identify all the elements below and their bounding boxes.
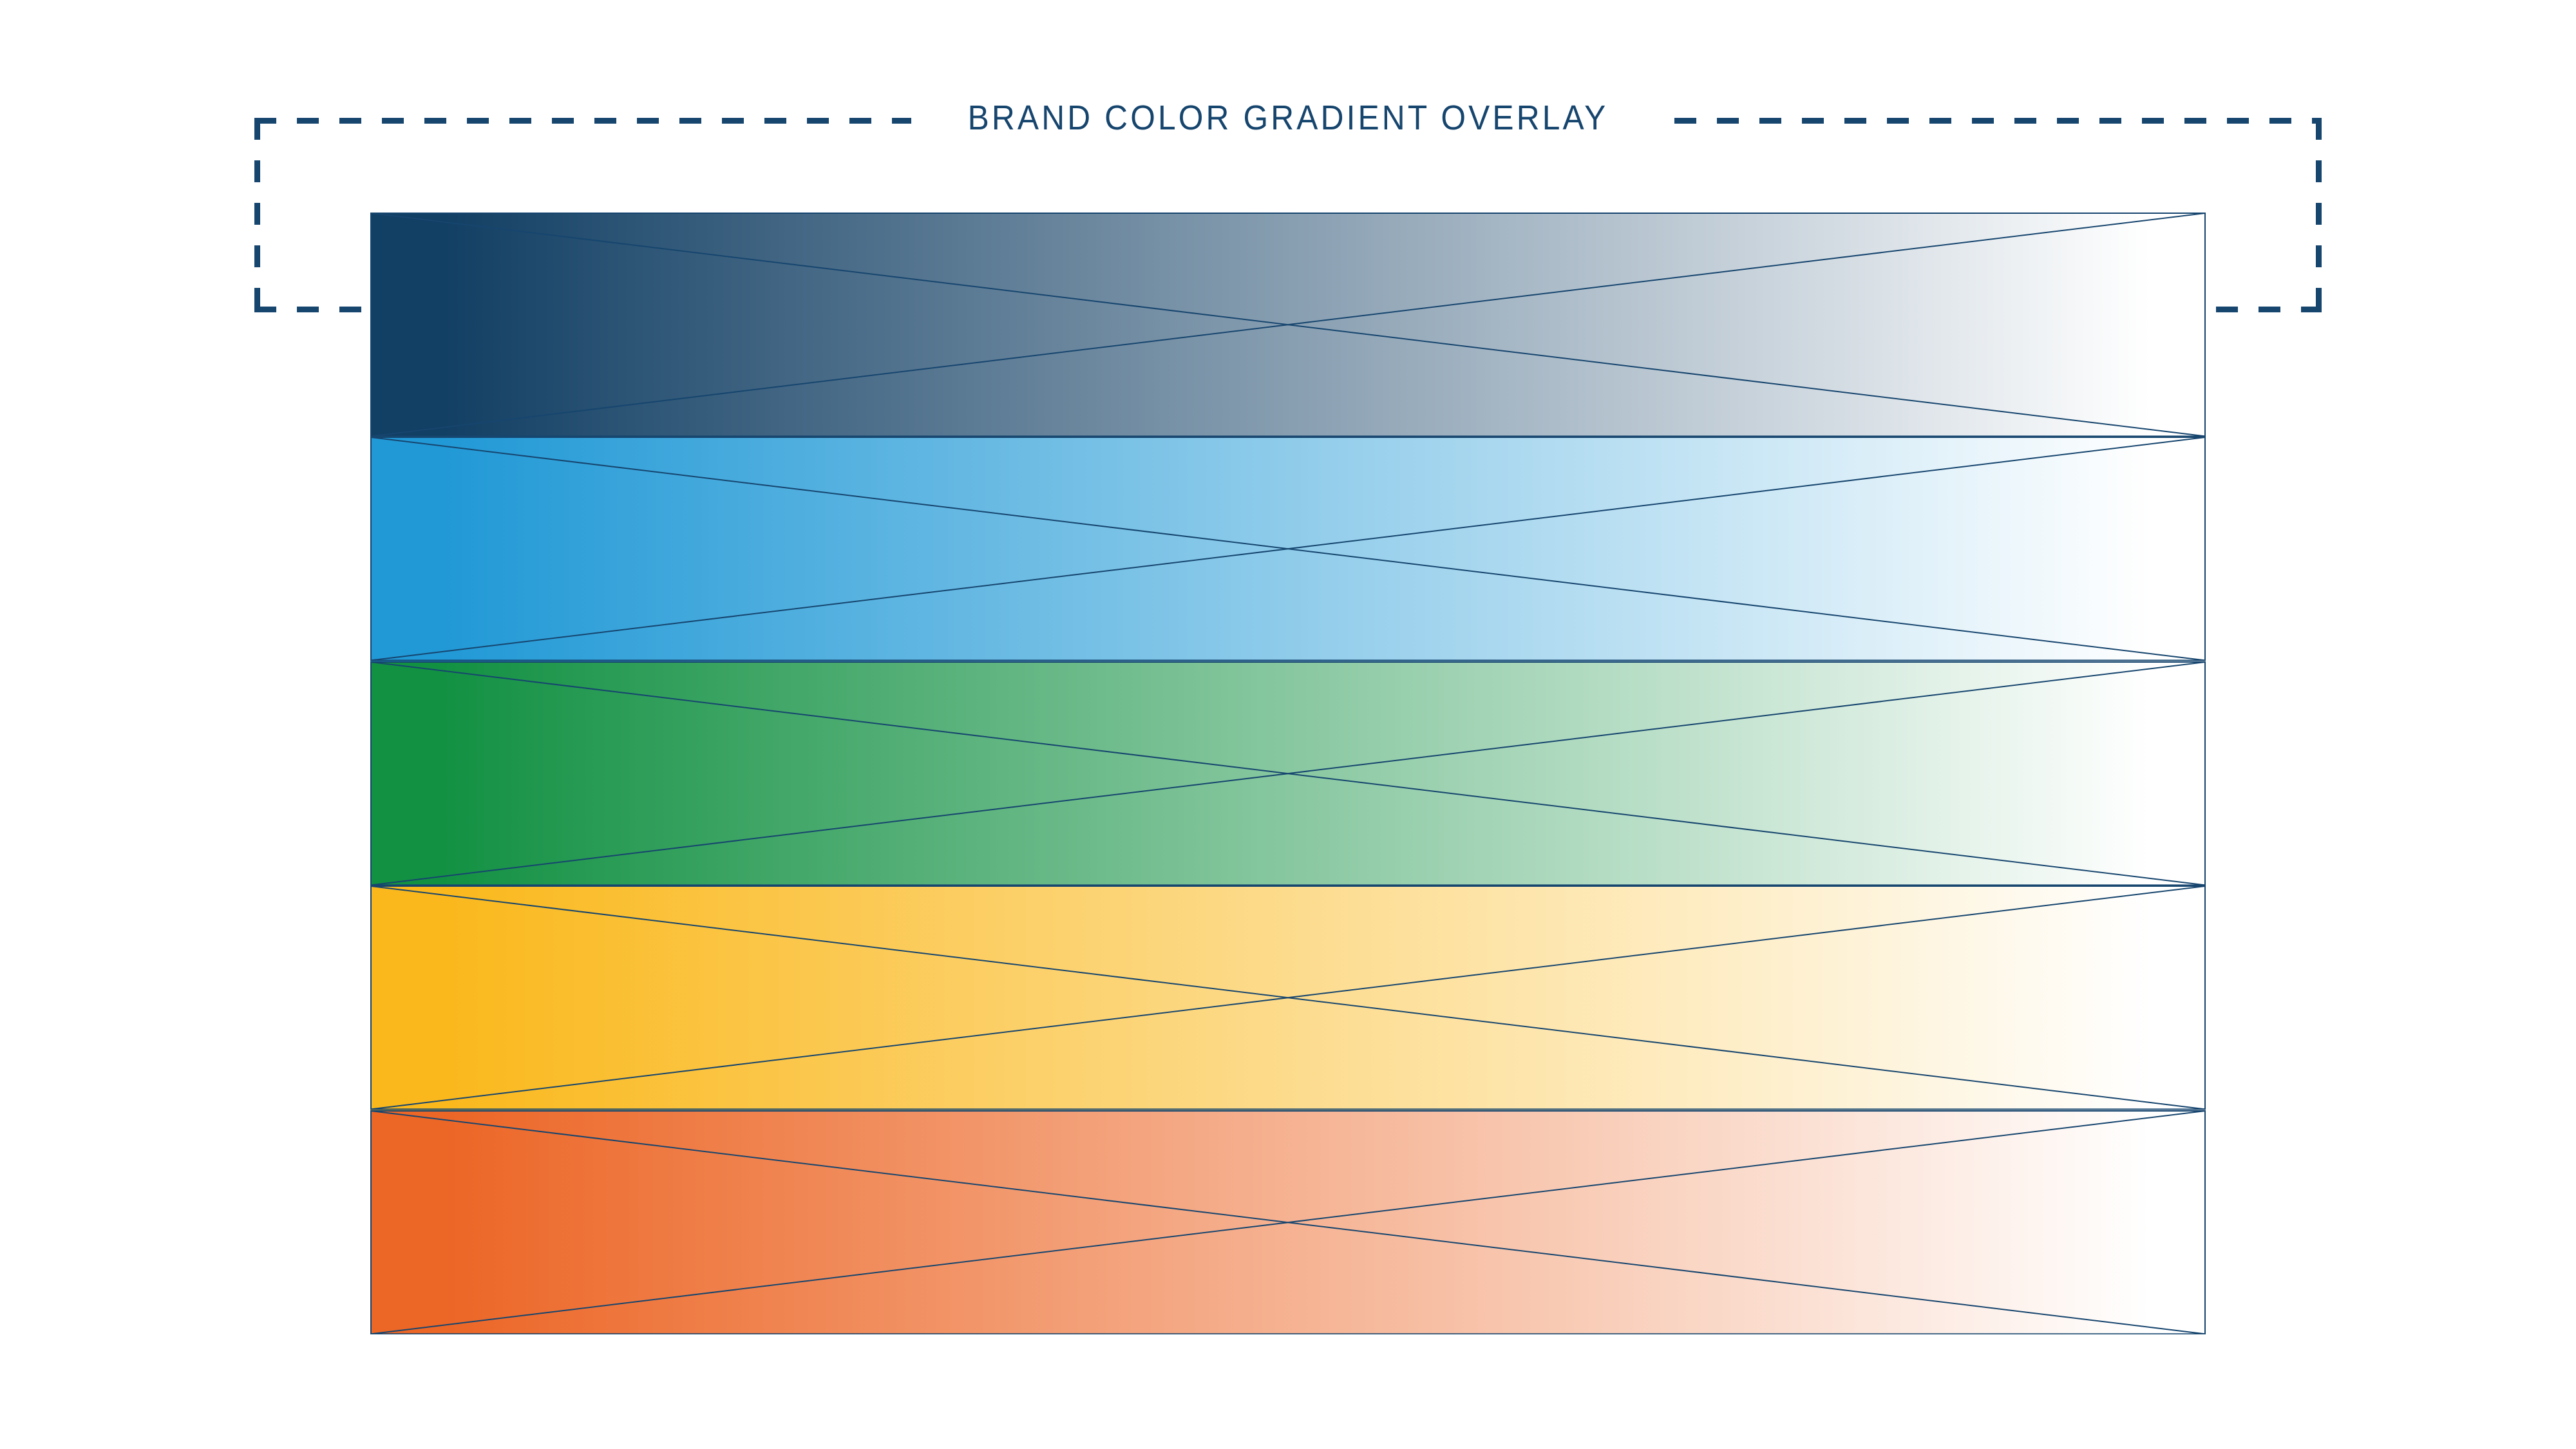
page-title: BRAND COLOR GRADIENT OVERLAY bbox=[103, 98, 2473, 138]
frame-left-edge bbox=[254, 118, 260, 312]
band-x-overlay bbox=[370, 1110, 2206, 1334]
brand-gradient-chart bbox=[370, 213, 2206, 1334]
band-x-overlay bbox=[370, 213, 2206, 437]
gradient-band-sky-blue bbox=[370, 437, 2206, 661]
frame-right-edge bbox=[2316, 118, 2322, 312]
gradient-band-emerald-green bbox=[370, 661, 2206, 885]
gradient-band-deep-navy bbox=[370, 213, 2206, 437]
gradient-band-amber-yellow bbox=[370, 885, 2206, 1110]
band-x-overlay bbox=[370, 885, 2206, 1110]
gradient-band-vivid-orange bbox=[370, 1110, 2206, 1334]
band-x-overlay bbox=[370, 661, 2206, 885]
frame-bottom-edge bbox=[254, 307, 380, 312]
band-x-overlay bbox=[370, 437, 2206, 661]
canvas: BRAND COLOR GRADIENT OVERLAY bbox=[0, 0, 2576, 1449]
